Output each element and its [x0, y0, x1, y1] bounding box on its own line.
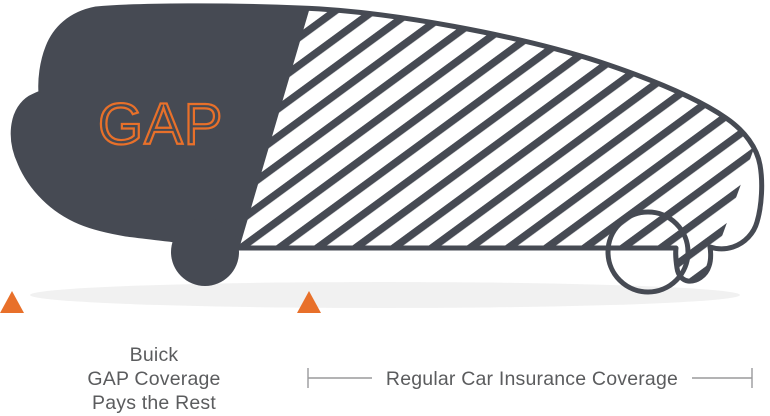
diagram-canvas: GAP Regular Car Insurance Coverage Buick… — [0, 0, 770, 416]
gap-insurance-diagram: GAP Regular Car Insurance Coverage Buick… — [0, 0, 770, 416]
regular-coverage-label: Regular Car Insurance Coverage — [386, 368, 678, 390]
gap-caption-line-1: Buick — [130, 344, 179, 366]
gap-coverage-caption: Buick GAP Coverage Pays the Rest — [87, 344, 220, 414]
gap-caption-line-2: GAP Coverage — [87, 368, 220, 390]
gap-label-on-vehicle: GAP — [98, 92, 224, 157]
left-marker-triangle — [0, 291, 24, 313]
gap-caption-line-3: Pays the Rest — [92, 392, 216, 414]
ground-shadow — [30, 282, 740, 308]
front-wheel — [171, 218, 239, 286]
